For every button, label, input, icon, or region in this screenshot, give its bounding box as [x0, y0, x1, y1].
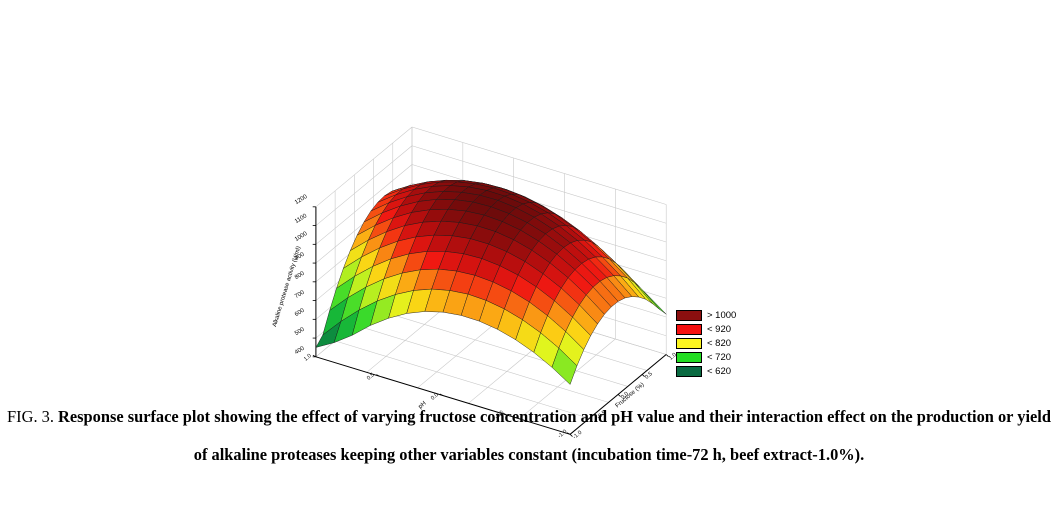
surface-plot-canvas — [300, 55, 700, 365]
z-axis-line — [313, 207, 316, 357]
caption-figure-number: FIG. 3. — [7, 407, 54, 426]
legend-swatch — [676, 324, 702, 335]
legend-swatch — [676, 366, 702, 377]
surface-plot: 1200110010009008007006005004001.00.50.0-… — [300, 55, 700, 365]
response-surface-mesh — [316, 180, 666, 384]
figure-root: 1200110010009008007006005004001.00.50.0-… — [0, 0, 1058, 509]
legend-swatch — [676, 338, 702, 349]
legend: > 1000< 920< 820< 720< 620 — [676, 309, 772, 379]
legend-swatch — [676, 310, 702, 321]
figure-caption: FIG. 3. Response surface plot showing th… — [6, 398, 1052, 474]
legend-label: < 820 — [707, 338, 731, 349]
legend-label: < 620 — [707, 366, 731, 377]
legend-swatch — [676, 352, 702, 363]
legend-row: > 1000 — [676, 309, 772, 322]
x-axis-tick-label: 0.5 — [366, 372, 376, 382]
y-axis-tick-label: 0.5 — [644, 371, 654, 381]
legend-label: < 920 — [707, 324, 731, 335]
legend-label: < 720 — [707, 352, 731, 363]
legend-row: < 920 — [676, 323, 772, 336]
legend-row: < 820 — [676, 337, 772, 350]
caption-text: Response surface plot showing the effect… — [54, 407, 1051, 464]
legend-row: < 720 — [676, 351, 772, 364]
legend-row: < 620 — [676, 365, 772, 378]
legend-label: > 1000 — [707, 310, 736, 321]
